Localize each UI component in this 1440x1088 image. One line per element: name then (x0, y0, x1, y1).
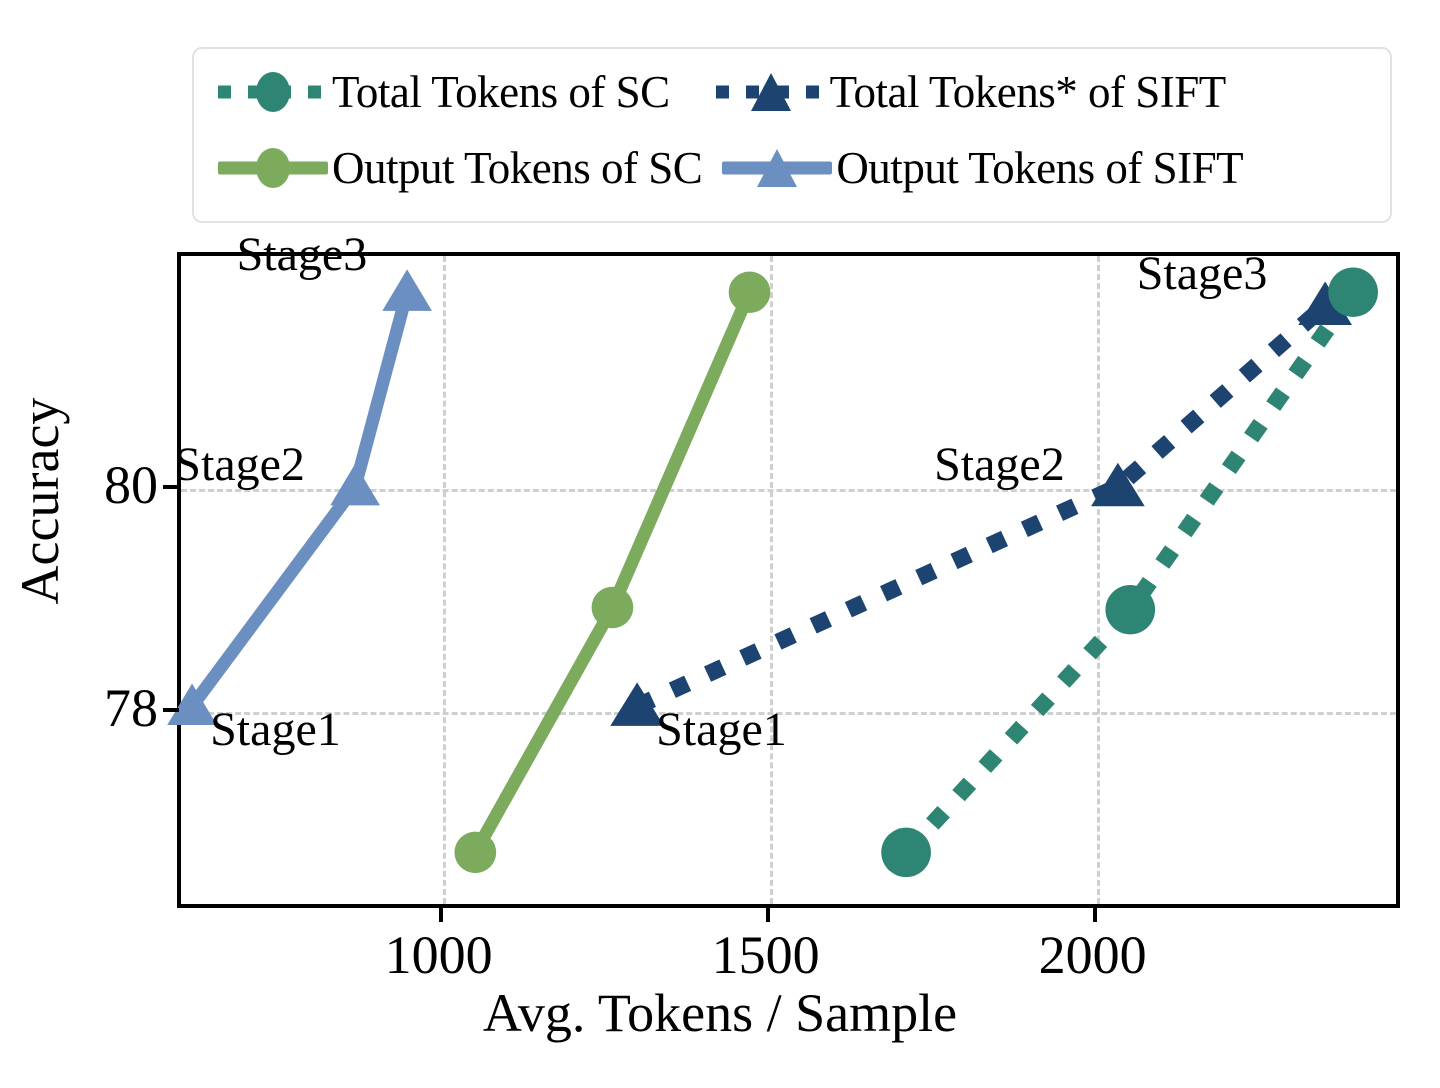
series-line (637, 305, 1325, 706)
x-axis-tick-label: 1000 (385, 924, 493, 986)
point-annotation: Stage1 (210, 706, 341, 754)
legend-label: Total Tokens of SC (332, 70, 670, 115)
legend-key-output-tokens-sift (718, 140, 836, 196)
legend-entry-output-tokens-sift[interactable]: Output Tokens of SIFT (718, 137, 1243, 199)
y-axis-tick (163, 708, 179, 712)
data-point-circle (729, 272, 771, 313)
chart-legend: Total Tokens of SC Total Tokens* of SIFT… (192, 47, 1392, 223)
y-axis-tick-label: 78 (104, 677, 158, 739)
legend-label: Output Tokens of SIFT (836, 146, 1243, 191)
point-annotation: Stage2 (174, 441, 305, 489)
y-axis-label: Accuracy (9, 261, 71, 741)
legend-entry-output-tokens-sc[interactable]: Output Tokens of SC (214, 137, 702, 199)
x-axis-tick (1093, 908, 1097, 922)
circle-marker-icon (256, 72, 290, 112)
y-axis-tick (163, 485, 179, 489)
legend-key-output-tokens-sc (214, 140, 332, 196)
data-point-circle (592, 587, 634, 628)
legend-entry-total-tokens-sc[interactable]: Total Tokens of SC (214, 61, 670, 123)
y-axis-tick-label: 80 (104, 454, 158, 516)
legend-row: Output Tokens of SC Output Tokens of SIF… (194, 137, 1390, 199)
x-axis-tick-label: 2000 (1039, 924, 1147, 986)
point-annotation: Stage3 (1137, 250, 1268, 298)
series-line (906, 292, 1353, 852)
data-point-triangle (382, 269, 432, 310)
data-point-circle (1328, 268, 1378, 317)
point-annotation: Stage1 (656, 706, 787, 754)
point-annotation: Stage3 (237, 231, 368, 279)
legend-key-total-tokens-sc (214, 64, 332, 120)
data-point-circle (881, 828, 931, 877)
plot-area: Stage3Stage2Stage1Stage1Stage2Stage3 (177, 252, 1400, 908)
chart-figure: Total Tokens of SC Total Tokens* of SIFT… (0, 0, 1440, 1088)
legend-label: Output Tokens of SC (332, 146, 702, 191)
data-point-circle (1105, 585, 1155, 634)
x-axis-tick (439, 908, 443, 922)
point-annotation: Stage2 (934, 441, 1065, 489)
data-point-triangle (330, 464, 380, 505)
x-axis-label: Avg. Tokens / Sample (0, 982, 1440, 1044)
data-point-circle (454, 832, 496, 873)
circle-marker-icon (256, 148, 290, 188)
legend-row: Total Tokens of SC Total Tokens* of SIFT (194, 61, 1390, 123)
series-line (475, 292, 749, 852)
legend-entry-total-tokens-sift[interactable]: Total Tokens* of SIFT (712, 61, 1226, 123)
triangle-marker-icon (751, 73, 791, 111)
x-axis-tick-label: 1500 (712, 924, 820, 986)
triangle-marker-icon (757, 149, 797, 187)
legend-key-total-tokens-sift (712, 64, 830, 120)
legend-label: Total Tokens* of SIFT (830, 70, 1226, 115)
x-axis-tick (766, 908, 770, 922)
series-layer (181, 256, 1396, 904)
